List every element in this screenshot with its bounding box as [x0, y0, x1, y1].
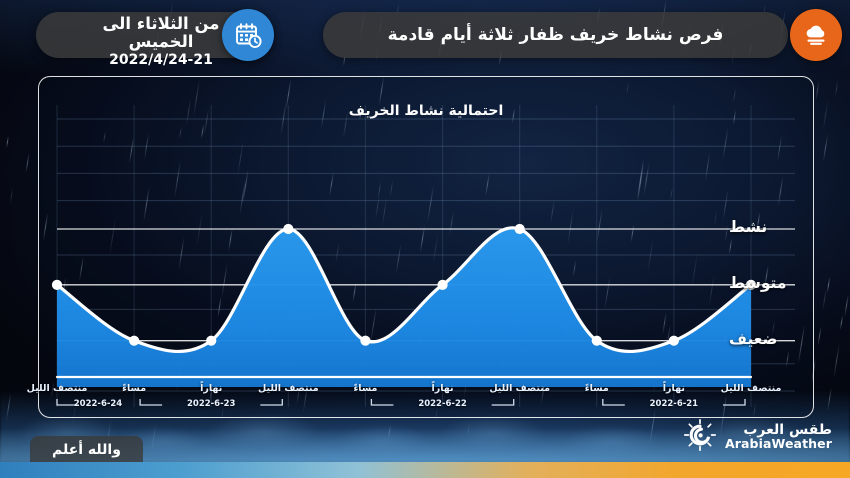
headline-text: فرص نشاط خريف ظفار ثلاثة أيام قادمة [323, 12, 788, 58]
x-axis-label-7: نهاراً [180, 383, 242, 394]
y-axis-label-1: ضعيف [729, 330, 778, 348]
date-range-value: 2022/4/24-21 [68, 53, 254, 68]
brand-name-en: ArabiaWeather [725, 438, 832, 451]
probability-area-chart [39, 77, 813, 417]
tagline-text: والله أعلم [52, 442, 121, 458]
y-axis-label-3: نشط [729, 218, 767, 236]
x-axis-date-2: 2022-6-23 [176, 399, 246, 409]
infographic-canvas: من الثلاثاء الى الخميس 2022/4/24-21 فرص … [0, 0, 850, 478]
x-axis-label-0: منتصف الليل [720, 383, 782, 394]
x-axis-date-1: 2022-6-22 [408, 399, 478, 409]
headline-chip: فرص نشاط خريف ظفار ثلاثة أيام قادمة [323, 12, 788, 58]
bottom-accent-bar [0, 462, 850, 478]
x-axis-date-0: 2022-6-21 [639, 399, 709, 409]
brand-logo: طقس العرب ArabiaWeather [683, 418, 832, 456]
sun-swirl-icon [683, 418, 717, 456]
calendar-clock-icon [222, 9, 274, 61]
tagline-chip: والله أعلم [30, 436, 143, 464]
brand-text: طقس العرب ArabiaWeather [725, 423, 832, 450]
cloud-fog-icon [790, 9, 842, 61]
x-axis-label-9: منتصف الليل [26, 383, 88, 394]
x-axis-label-8: مساءً [103, 383, 165, 394]
x-axis-label-5: مساءً [334, 383, 396, 394]
x-axis-label-1: نهاراً [643, 383, 705, 394]
x-axis-label-2: مساءً [566, 383, 628, 394]
x-axis-label-3: منتصف الليل [489, 383, 551, 394]
x-axis-date-3: 2022-6-24 [63, 399, 133, 409]
x-axis-label-4: نهاراً [412, 383, 474, 394]
y-axis-label-2: متوسط [729, 274, 786, 292]
x-axis-label-6: منتصف الليل [257, 383, 319, 394]
chart-panel: احتمالية نشاط الخريف ضعيفمتوسطنشط منتصف … [38, 76, 814, 418]
